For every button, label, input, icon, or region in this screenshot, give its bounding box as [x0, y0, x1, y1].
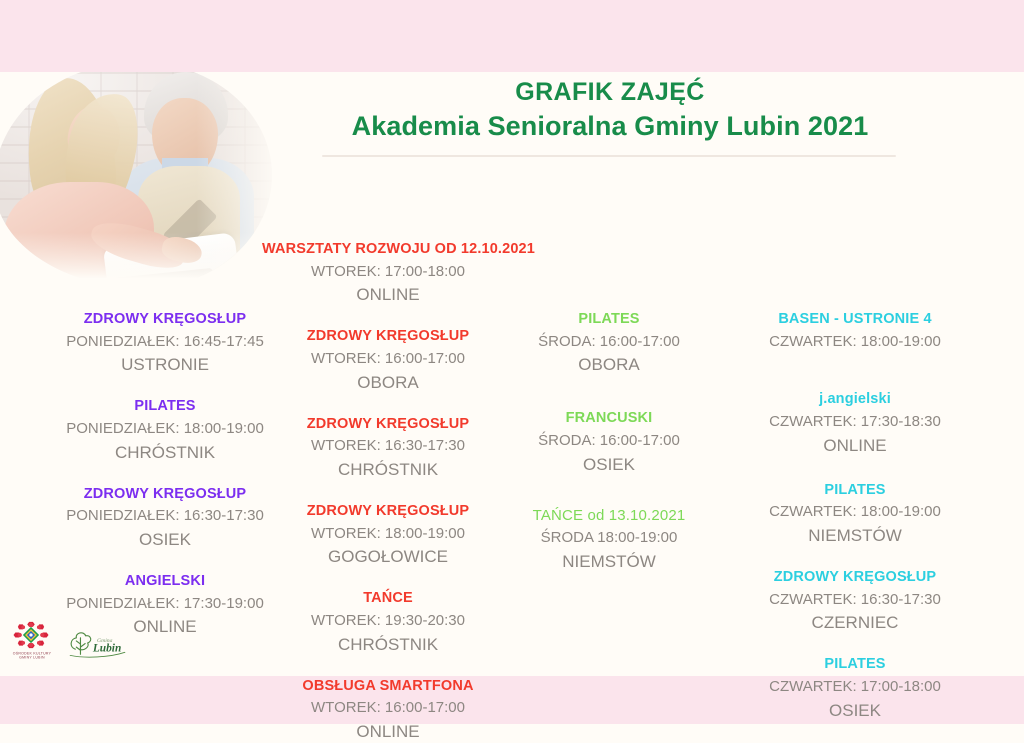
entry-time: CZWARTEK: 18:00-19:00 — [730, 332, 980, 353]
schedule-entry: ZDROWY KRĘGOSŁUP PONIEDZIAŁEK: 16:45-17:… — [36, 310, 294, 376]
entry-place: OBORA — [492, 354, 726, 376]
logo-gmina-lubin-line2: Lubin — [92, 642, 121, 654]
logo-osrodek-kultury: OŚRODEK KULTURY GMINY LUBIN — [12, 620, 52, 660]
poster-header: GRAFIK ZAJĘĆ Akademia Senioralna Gminy L… — [260, 78, 960, 142]
entry-title: TAŃCE — [262, 589, 514, 609]
entry-time: PONIEDZIAŁEK: 16:30-17:30 — [36, 506, 294, 527]
entry-place: OSIEK — [492, 454, 726, 476]
entry-time: ŚRODA 18:00-19:00 — [492, 528, 726, 549]
entry-title: FRANCUSKI — [492, 409, 726, 429]
entry-time: PONIEDZIAŁEK: 18:00-19:00 — [36, 419, 294, 440]
entry-place: USTRONIE — [36, 354, 294, 376]
entry-time: CZWARTEK: 18:00-19:00 — [730, 502, 980, 523]
page-title-line1: GRAFIK ZAJĘĆ — [260, 78, 960, 108]
entry-time: WTOREK: 16:00-17:00 — [262, 698, 514, 719]
title-divider — [322, 155, 896, 157]
entry-time: WTOREK: 16:00-17:00 — [262, 349, 514, 370]
logo-row: OŚRODEK KULTURY GMINY LUBIN Gmina Lubin — [12, 620, 128, 660]
schedule-entry: PILATES ŚRODA: 16:00-17:00 OBORA — [492, 310, 726, 376]
entry-title: ZDROWY KRĘGOSŁUP — [36, 485, 294, 505]
entry-time: WTOREK: 16:30-17:30 — [262, 436, 514, 457]
schedule-entry: ZDROWY KRĘGOSŁUP WTOREK: 16:30-17:30 CHR… — [262, 415, 514, 481]
entry-place: ONLINE — [262, 721, 514, 743]
schedule-column-czwartek: BASEN - USTRONIE 4 CZWARTEK: 18:00-19:00… — [730, 232, 980, 722]
schedule-entry: WARSZTATY ROZWOJU OD 12.10.2021 WTOREK: … — [262, 240, 514, 306]
entry-place: OSIEK — [36, 529, 294, 551]
entry-title: WARSZTATY ROZWOJU OD 12.10.2021 — [262, 240, 514, 260]
entry-title: PILATES — [730, 655, 980, 675]
entry-time: CZWARTEK: 16:30-17:30 — [730, 590, 980, 611]
entry-place: CHRÓSTNIK — [36, 442, 294, 464]
entry-time: WTOREK: 19:30-20:30 — [262, 611, 514, 632]
schedule-entry: TAŃCE WTOREK: 19:30-20:30 CHRÓSTNIK — [262, 589, 514, 655]
logo-gmina-lubin: Gmina Lubin — [66, 626, 128, 660]
entry-title: BASEN - USTRONIE 4 — [730, 310, 980, 330]
entry-title: PILATES — [492, 310, 726, 330]
schedule-entry: ZDROWY KRĘGOSŁUP CZWARTEK: 16:30-17:30 C… — [730, 568, 980, 634]
entry-title: PILATES — [36, 397, 294, 417]
entry-time: CZWARTEK: 17:00-18:00 — [730, 677, 980, 698]
entry-title: ZDROWY KRĘGOSŁUP — [262, 327, 514, 347]
entry-title: j.angielski — [730, 390, 980, 410]
schedule-entry: OBSŁUGA SMARTFONA WTOREK: 16:00-17:00 ON… — [262, 677, 514, 743]
entry-time: ŚRODA: 16:00-17:00 — [492, 431, 726, 452]
schedule-entry: TAŃCE od 13.10.2021 ŚRODA 18:00-19:00 NI… — [492, 506, 726, 573]
schedule-entry: BASEN - USTRONIE 4 CZWARTEK: 18:00-19:00 — [730, 310, 980, 352]
schedule-entry: FRANCUSKI ŚRODA: 16:00-17:00 OSIEK — [492, 409, 726, 475]
entry-time: ŚRODA: 16:00-17:00 — [492, 332, 726, 353]
schedule-entry: PILATES CZWARTEK: 17:00-18:00 OSIEK — [730, 655, 980, 721]
entry-title: ANGIELSKI — [36, 572, 294, 592]
entry-place: OSIEK — [730, 700, 980, 722]
schedule-column-poniedzialek: ZDROWY KRĘGOSŁUP PONIEDZIAŁEK: 16:45-17:… — [36, 232, 294, 638]
entry-time: CZWARTEK: 17:30-18:30 — [730, 412, 980, 433]
entry-time: PONIEDZIAŁEK: 16:45-17:45 — [36, 332, 294, 353]
entry-place: CHRÓSTNIK — [262, 459, 514, 481]
entry-time: PONIEDZIAŁEK: 17:30-19:00 — [36, 594, 294, 615]
logo-osrodek-kultury-line2: GMINY LUBIN — [5, 656, 59, 661]
entry-title: TAŃCE od 13.10.2021 — [492, 506, 726, 526]
schedule-entry: PILATES CZWARTEK: 18:00-19:00 NIEMSTÓW — [730, 481, 980, 547]
entry-time: WTOREK: 18:00-19:00 — [262, 524, 514, 545]
entry-place: GOGOŁOWICE — [262, 546, 514, 568]
entry-place: NIEMSTÓW — [492, 551, 726, 573]
schedule-entry: j.angielski CZWARTEK: 17:30-18:30 ONLINE — [730, 390, 980, 456]
entry-time: WTOREK: 17:00-18:00 — [262, 262, 514, 283]
schedule-column-sroda: PILATES ŚRODA: 16:00-17:00 OBORA FRANCUS… — [492, 232, 726, 573]
entry-place: ONLINE — [730, 435, 980, 457]
entry-place: OBORA — [262, 372, 514, 394]
entry-place: NIEMSTÓW — [730, 525, 980, 547]
schedule-grid: ZDROWY KRĘGOSŁUP PONIEDZIAŁEK: 16:45-17:… — [0, 232, 1024, 680]
folk-star-icon — [12, 620, 50, 650]
schedule-column-wtorek: WARSZTATY ROZWOJU OD 12.10.2021 WTOREK: … — [262, 232, 514, 743]
entry-title: ZDROWY KRĘGOSŁUP — [730, 568, 980, 588]
top-decorative-band — [0, 0, 1024, 72]
entry-title: ZDROWY KRĘGOSŁUP — [262, 415, 514, 435]
page-title-line2: Akademia Senioralna Gminy Lubin 2021 — [260, 110, 960, 142]
entry-title: PILATES — [730, 481, 980, 501]
schedule-entry: PILATES PONIEDZIAŁEK: 18:00-19:00 CHRÓST… — [36, 397, 294, 463]
entry-title: OBSŁUGA SMARTFONA — [262, 677, 514, 697]
entry-place: CHRÓSTNIK — [262, 634, 514, 656]
schedule-entry: ZDROWY KRĘGOSŁUP WTOREK: 18:00-19:00 GOG… — [262, 502, 514, 568]
schedule-entry: ZDROWY KRĘGOSŁUP PONIEDZIAŁEK: 16:30-17:… — [36, 485, 294, 551]
entry-title: ZDROWY KRĘGOSŁUP — [262, 502, 514, 522]
schedule-entry: ZDROWY KRĘGOSŁUP WTOREK: 16:00-17:00 OBO… — [262, 327, 514, 393]
poster-canvas: GRAFIK ZAJĘĆ Akademia Senioralna Gminy L… — [0, 0, 1024, 724]
entry-place: CZERNIEC — [730, 612, 980, 634]
entry-place: ONLINE — [262, 284, 514, 306]
entry-title: ZDROWY KRĘGOSŁUP — [36, 310, 294, 330]
